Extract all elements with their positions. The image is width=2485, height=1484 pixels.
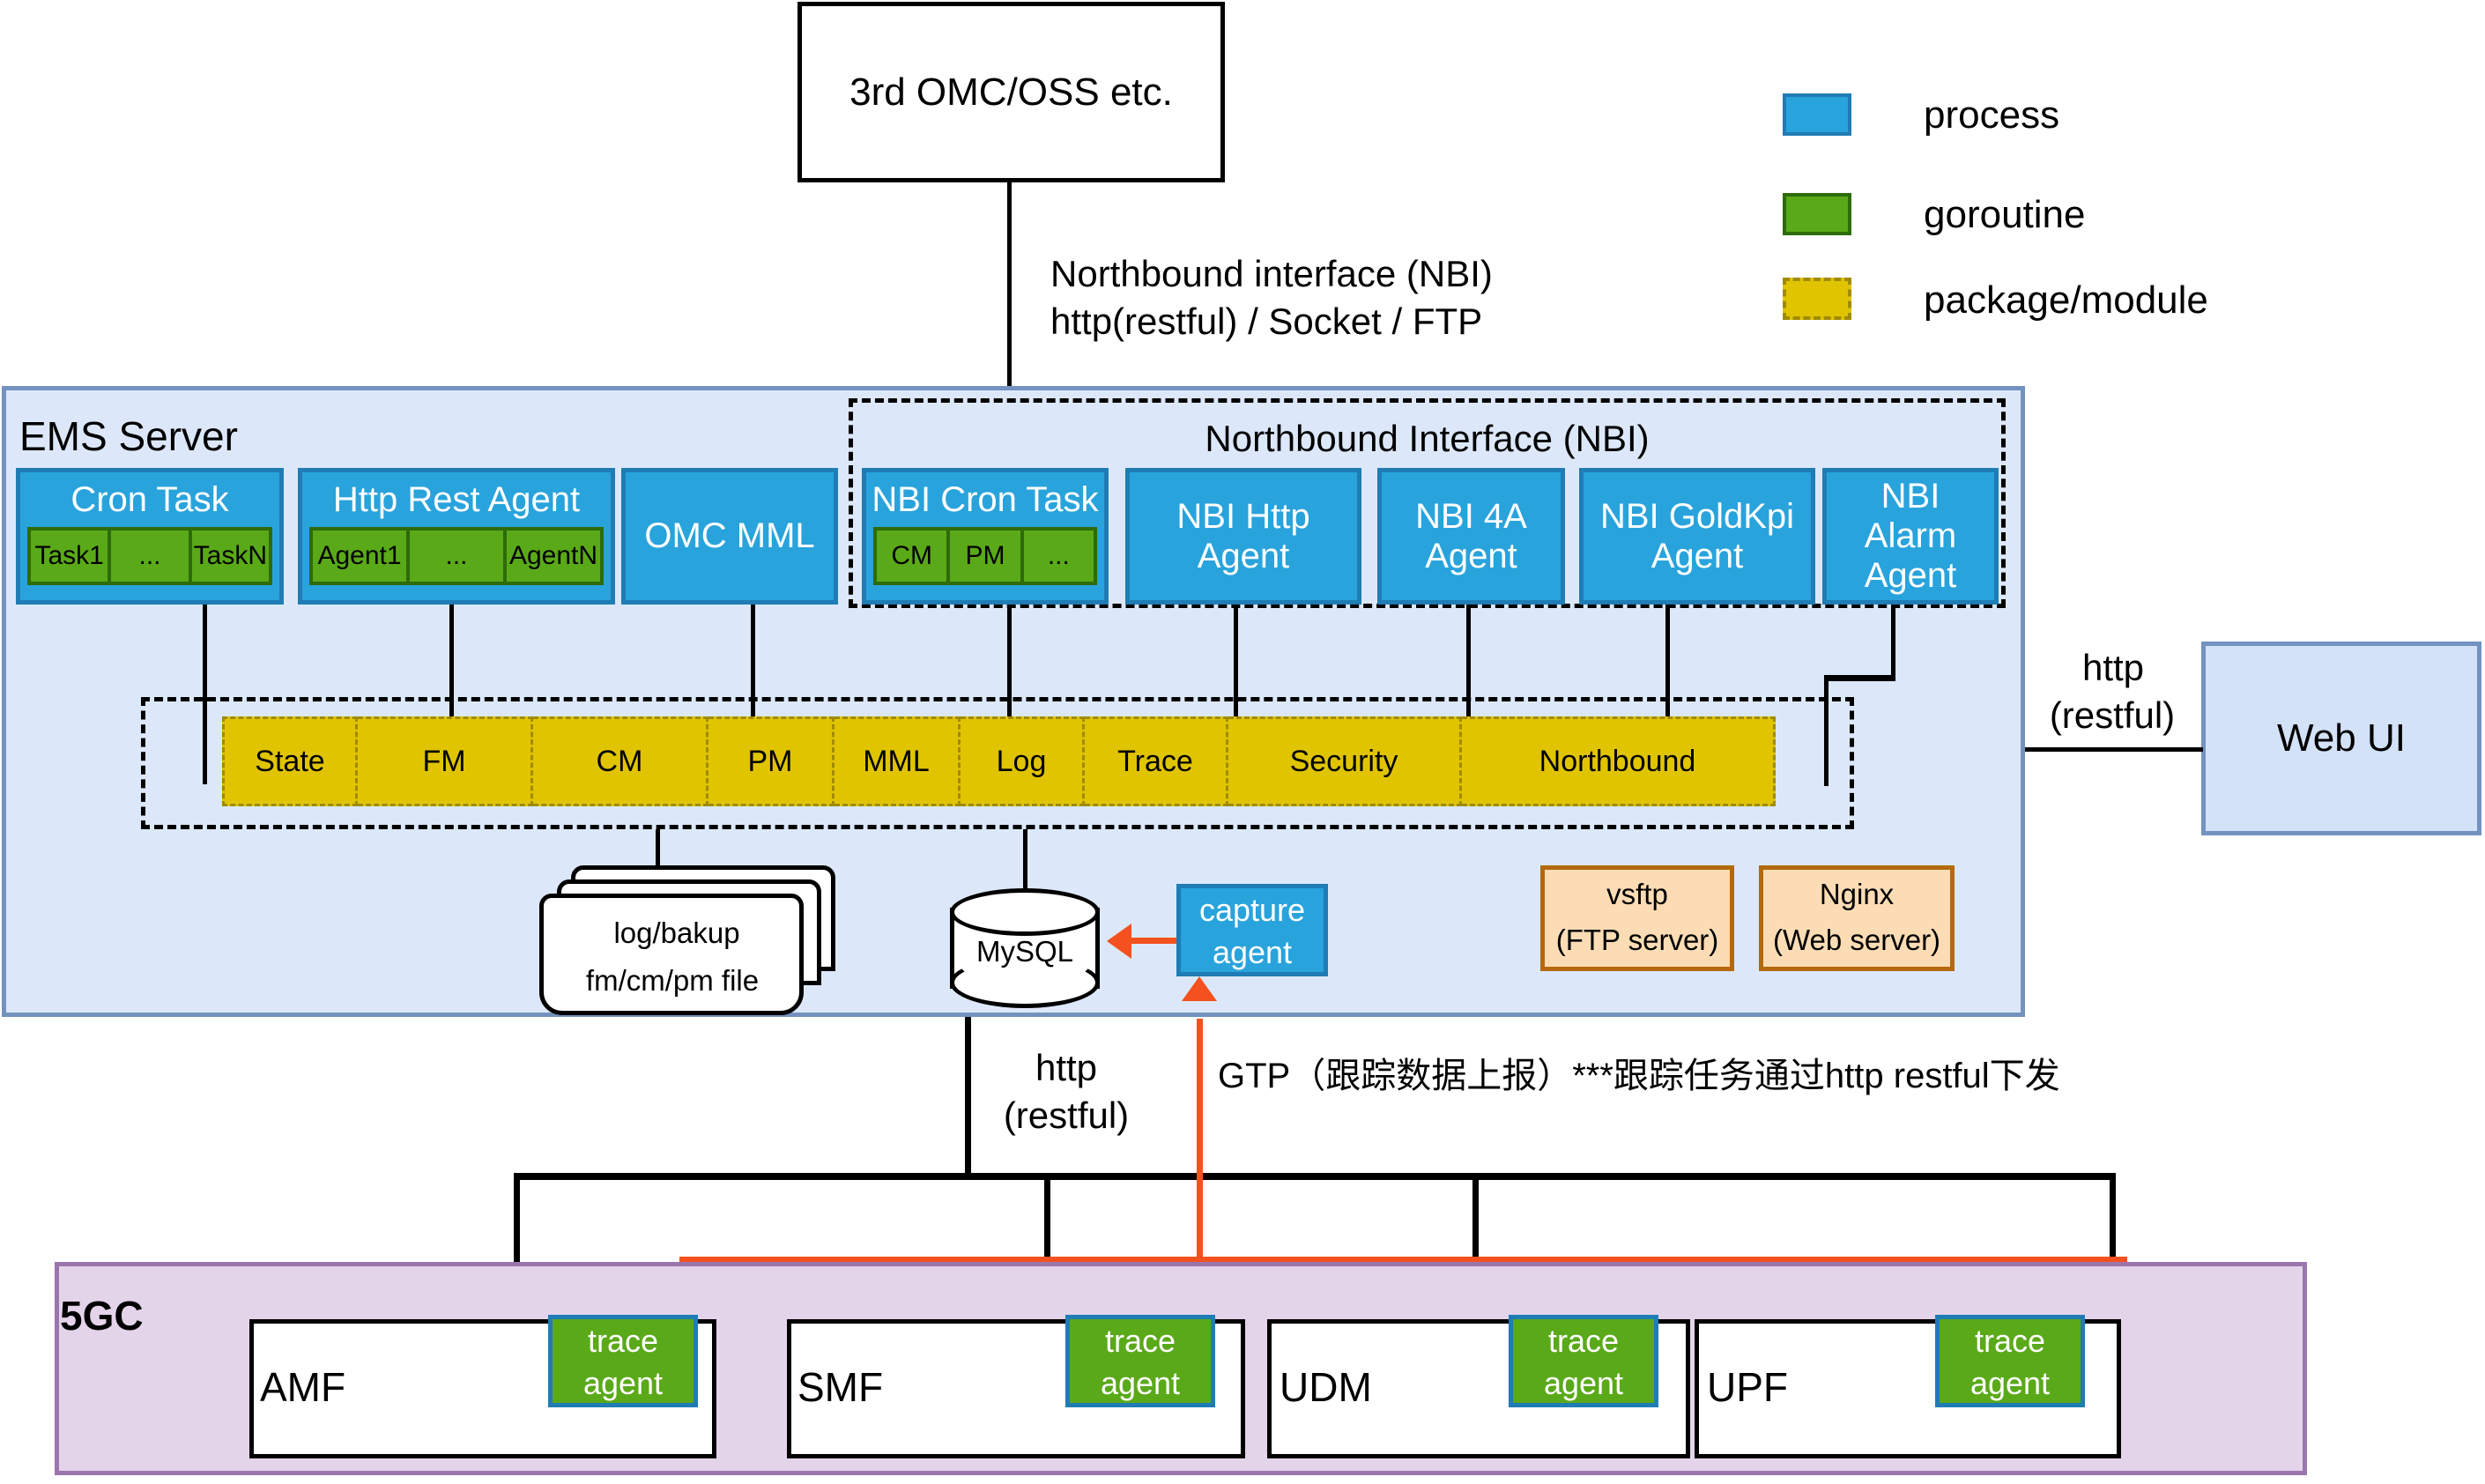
server-vsftp-line1: vsftp [1545, 870, 1730, 919]
process-nbi-http-agent-label: NBI Http Agent [1137, 497, 1350, 576]
legend-goroutine-label: goroutine [1924, 192, 2085, 238]
process-nbi-4a-agent[interactable]: NBI 4A Agent [1377, 468, 1565, 605]
nbi-link-label-line2: http(restful) / Socket / FTP [1050, 300, 1482, 344]
file-store-line1: log/bakup [564, 916, 790, 951]
module-bar: State FM CM PM MML Log Trace Security No… [222, 716, 1776, 806]
server-nginx-line2: (Web server) [1763, 919, 1950, 961]
node-udm-label: UDM [1280, 1363, 1372, 1411]
goroutine-pm[interactable]: PM [950, 527, 1023, 585]
file-store-line2: fm/cm/pm file [555, 964, 790, 998]
nbi-connector-line [1007, 182, 1012, 398]
node-amf-label: AMF [260, 1363, 345, 1411]
server-nginx-line1: Nginx [1763, 870, 1950, 919]
legend-package-swatch-icon [1783, 278, 1851, 320]
process-nbi-alarm-agent-label: NBI Alarm Agent [1834, 477, 1987, 596]
trace-agent-upf-line1: trace [1940, 1319, 2081, 1363]
capture-to-mysql-arrowhead [1107, 924, 1131, 959]
module-security[interactable]: Security [1228, 716, 1462, 806]
third-party-omc-oss-label: 3rd OMC/OSS etc. [849, 70, 1173, 115]
legend-process-label: process [1924, 93, 2059, 138]
capture-to-mysql-line [1131, 938, 1181, 944]
trace-agent-upf-line2: agent [1940, 1363, 2081, 1403]
process-http-rest-agent[interactable]: Http Rest Agent Agent1 ... AgentN [298, 468, 615, 605]
process-omc-mml-label: OMC MML [644, 516, 814, 556]
web-ui-label: Web UI [2277, 716, 2406, 761]
process-nbi-cron-task-label: NBI Cron Task [866, 472, 1104, 527]
nbi-link-label-line1: Northbound interface (NBI) [1050, 252, 1493, 296]
process-nbi-4a-agent-label: NBI 4A Agent [1389, 497, 1554, 576]
goroutine-ellipsis: ... [111, 527, 191, 585]
trace-agent-amf[interactable]: trace agent [548, 1315, 698, 1407]
webui-link-label-line1: http [2027, 649, 2199, 687]
module-trace[interactable]: Trace [1085, 716, 1228, 806]
trace-agent-smf-line2: agent [1070, 1363, 1211, 1403]
goroutine-taskn[interactable]: TaskN [192, 527, 272, 585]
goroutine-agentn[interactable]: AgentN [507, 527, 604, 585]
process-nbi-cron-task[interactable]: NBI Cron Task CM PM ... [862, 468, 1109, 605]
process-nbi-goldkpi-agent[interactable]: NBI GoldKpi Agent [1579, 468, 1815, 605]
module-northbound[interactable]: Northbound [1462, 716, 1776, 806]
trace-agent-smf[interactable]: trace agent [1065, 1315, 1215, 1407]
trace-agent-smf-line1: trace [1070, 1319, 1211, 1363]
ems-to-5gc-label-line1: http [978, 1049, 1154, 1087]
process-http-rest-agent-label: Http Rest Agent [302, 472, 611, 527]
mysql-database[interactable]: MySQL [950, 888, 1100, 1012]
module-state[interactable]: State [222, 716, 358, 806]
connector-module-to-mysql [1023, 829, 1027, 893]
trace-agent-amf-line2: agent [553, 1363, 694, 1403]
node-upf-label: UPF [1707, 1363, 1788, 1411]
node-smf-label: SMF [797, 1363, 883, 1411]
process-nbi-alarm-agent[interactable]: NBI Alarm Agent [1822, 468, 1999, 605]
process-nbi-goldkpi-agent-label: NBI GoldKpi Agent [1591, 497, 1804, 576]
process-capture-agent[interactable]: capture agent [1176, 884, 1328, 976]
module-log[interactable]: Log [961, 716, 1085, 806]
file-store-stack[interactable]: log/bakup fm/cm/pm file [539, 865, 830, 998]
capture-agent-line2: agent [1181, 932, 1324, 972]
trace-agent-udm-line2: agent [1513, 1363, 1654, 1403]
gtp-arrowhead [1182, 976, 1217, 1001]
legend-package-label: package/module [1924, 278, 2208, 323]
process-nbi-http-agent[interactable]: NBI Http Agent [1125, 468, 1361, 605]
process-cron-task[interactable]: Cron Task Task1 ... TaskN [16, 468, 284, 605]
mysql-label: MySQL [950, 934, 1100, 969]
module-pm[interactable]: PM [708, 716, 835, 806]
goroutine-agent1[interactable]: Agent1 [309, 527, 410, 585]
ems-to-5gc-bus [514, 1173, 2116, 1180]
gtp-riser-main [1197, 1019, 1203, 1262]
ems-to-5gc-label-line2: (restful) [969, 1096, 1163, 1135]
server-vsftp-line2: (FTP server) [1545, 919, 1730, 961]
connector-nbi-alarm-agent-upper [1891, 605, 1895, 679]
legend-process-swatch-icon [1783, 93, 1851, 136]
process-omc-mml[interactable]: OMC MML [621, 468, 838, 605]
webui-connector-line [2025, 747, 2203, 752]
module-fm[interactable]: FM [358, 716, 533, 806]
legend-goroutine-swatch-icon [1783, 193, 1851, 235]
goroutine-task1[interactable]: Task1 [27, 527, 111, 585]
trace-agent-upf[interactable]: trace agent [1935, 1315, 2085, 1407]
third-party-omc-oss-box[interactable]: 3rd OMC/OSS etc. [797, 2, 1225, 182]
gtp-note-label: GTP（跟踪数据上报）***跟踪任务通过http restful下发 [1218, 1056, 2060, 1097]
goroutine-ellipsis: ... [1024, 527, 1097, 585]
goroutine-ellipsis: ... [410, 527, 507, 585]
capture-agent-line1: capture [1181, 888, 1324, 932]
server-vsftp[interactable]: vsftp (FTP server) [1540, 865, 1734, 971]
webui-link-label-line2: (restful) [2020, 696, 2205, 735]
trace-agent-udm-line1: trace [1513, 1319, 1654, 1363]
connector-nbi-alarm-agent-jog [1827, 675, 1895, 681]
core-5gc-title: 5GC [60, 1292, 144, 1339]
web-ui-box[interactable]: Web UI [2201, 642, 2481, 835]
server-nginx[interactable]: Nginx (Web server) [1759, 865, 1955, 971]
trace-agent-amf-line1: trace [553, 1319, 694, 1363]
ems-server-title: EMS Server [19, 412, 238, 460]
module-mml[interactable]: MML [835, 716, 961, 806]
nbi-group-title: Northbound Interface (NBI) [849, 419, 2006, 458]
process-cron-task-label: Cron Task [20, 472, 279, 527]
architecture-diagram: 3rd OMC/OSS etc. Northbound interface (N… [0, 0, 2485, 1484]
goroutine-cm[interactable]: CM [873, 527, 950, 585]
module-cm[interactable]: CM [533, 716, 708, 806]
trace-agent-udm[interactable]: trace agent [1509, 1315, 1658, 1407]
